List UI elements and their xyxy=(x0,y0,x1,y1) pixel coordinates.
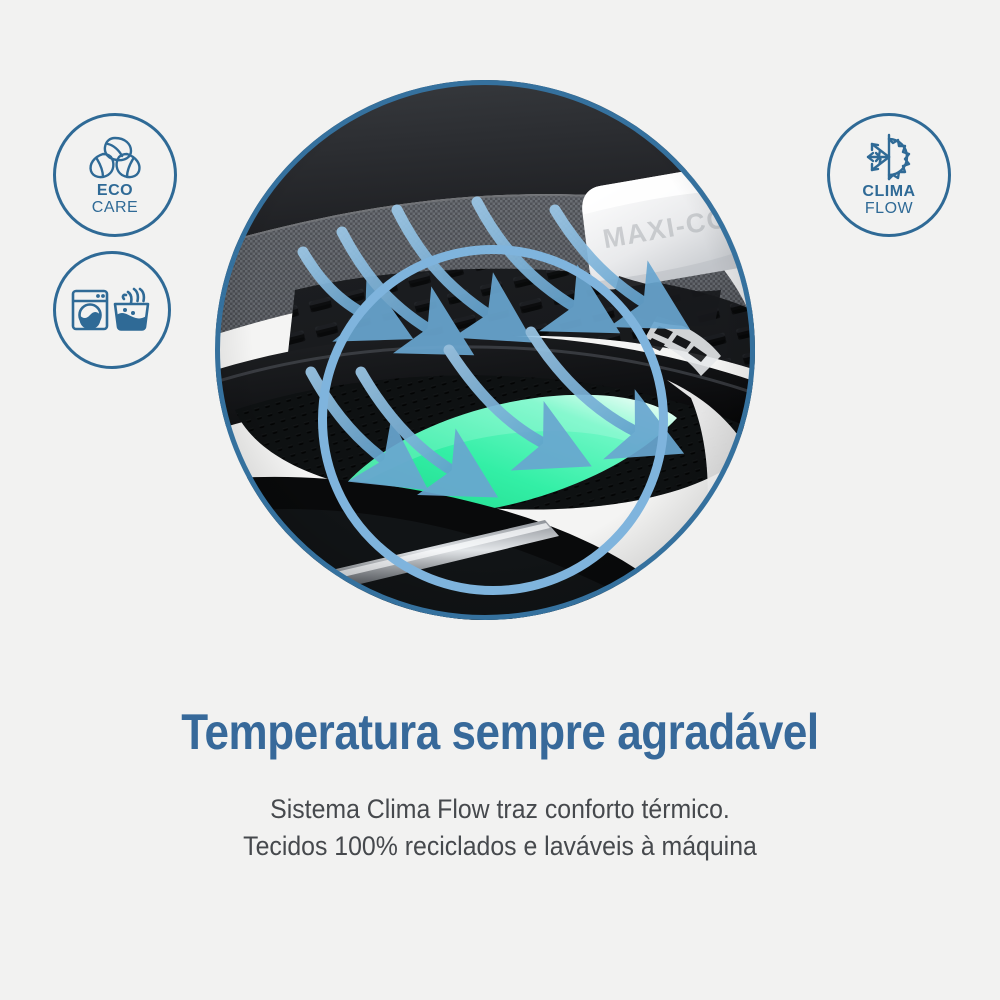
subtitle-line-1: Sistema Clima Flow traz conforto térmico… xyxy=(40,791,960,828)
badge-clima-flow: CLIMA FLOW xyxy=(827,113,951,237)
snowflake-sun-icon xyxy=(860,133,918,181)
badge-eco-care-label: ECO CARE xyxy=(92,183,138,216)
badge-eco-care: ECO CARE xyxy=(53,113,177,237)
marketing-image: MAXI-COSI xyxy=(0,0,1000,1000)
hero-product-figure: MAXI-COSI xyxy=(215,80,755,630)
page-headline: Temperatura sempre agradável xyxy=(60,703,940,761)
recycling-leaves-icon xyxy=(84,134,146,180)
washing-machine-hand-wash-icon xyxy=(70,285,154,335)
badge-machine-washable xyxy=(53,251,171,369)
magnifier-outer-ring xyxy=(215,80,755,620)
page-subtitle: Sistema Clima Flow traz conforto térmico… xyxy=(40,791,960,865)
subtitle-line-2: Tecidos 100% reciclados e laváveis à máq… xyxy=(40,828,960,865)
badge-clima-flow-label: CLIMA FLOW xyxy=(862,184,915,217)
